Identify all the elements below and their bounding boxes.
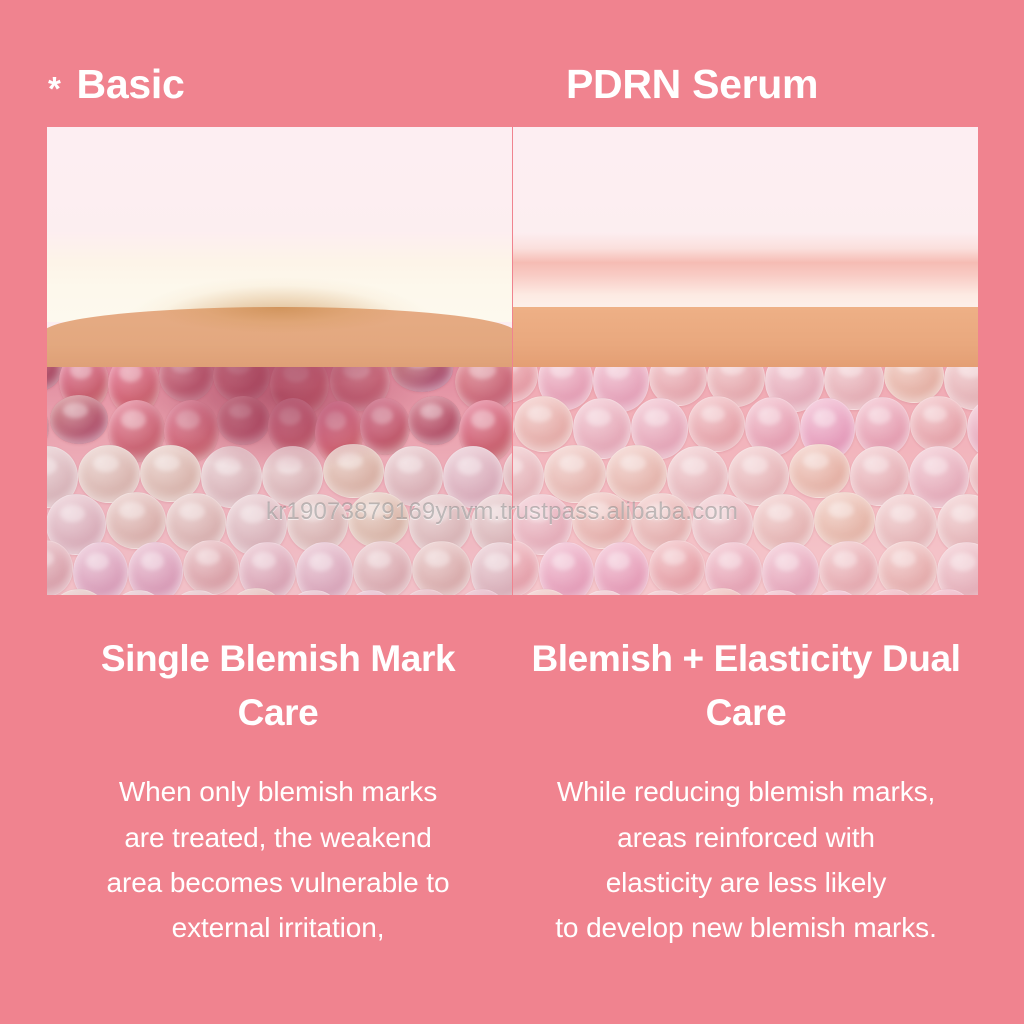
caption-pdrn-serum: Blemish + Elasticity Dual Care While red…	[524, 632, 968, 951]
skin-cell-bubble	[348, 492, 409, 548]
surface-layer-pdrn	[513, 127, 978, 239]
skin-cell-bubble	[353, 541, 411, 595]
skin-cell-bubble	[49, 589, 109, 595]
cell-matrix-layer-pdrn	[513, 367, 978, 595]
skin-cross-section-basic	[47, 127, 512, 595]
caption-basic-title: Single Blemish Mark Care	[56, 632, 500, 739]
skin-cell-bubble	[693, 588, 751, 595]
skin-cell-bubble	[343, 590, 399, 595]
skin-cell-bubble	[762, 542, 820, 595]
caption-line: area becomes vulnerable to	[56, 860, 500, 905]
column-header-pdrn-serum-label: PDRN Serum	[566, 61, 818, 108]
caption-line: to develop new blemish marks.	[524, 905, 968, 950]
column-header-basic-label: Basic	[77, 61, 185, 108]
column-header-basic: * Basic	[48, 52, 184, 116]
skin-cell-bubble	[809, 590, 865, 595]
skin-cell-bubble	[471, 542, 512, 595]
skin-cell-bubble	[865, 589, 920, 596]
caption-line: When only blemish marks	[56, 769, 500, 814]
skin-cell-bubble	[47, 589, 49, 595]
skin-cell-bubble	[50, 395, 109, 444]
cell-matrix-layer-basic	[47, 367, 512, 595]
cell-bubbles-pdrn	[513, 367, 978, 595]
caption-basic: Single Blemish Mark Care When only blemi…	[56, 632, 500, 951]
skin-cell-bubble	[412, 541, 471, 595]
caption-line: are treated, the weakend	[56, 815, 500, 860]
skin-cell-bubble	[878, 541, 937, 595]
skin-cell-bubble	[323, 444, 383, 499]
skin-cell-bubble	[920, 589, 975, 595]
skin-cell-bubble	[634, 590, 693, 595]
skin-cell-bubble	[594, 542, 649, 595]
skin-cell-bubble	[183, 540, 239, 595]
skin-cell-bubble	[217, 396, 270, 445]
skin-cell-bubble	[688, 396, 745, 452]
skin-cell-bubble	[539, 542, 594, 595]
cell-bubbles-basic	[47, 367, 512, 595]
skin-cell-bubble	[285, 590, 342, 595]
skin-cell-bubble	[814, 492, 875, 548]
caption-pdrn-serum-body: While reducing blemish marks,areas reinf…	[524, 769, 968, 950]
skin-cell-bubble	[454, 589, 509, 595]
skin-cell-bubble	[399, 589, 454, 596]
skin-cell-bubble	[819, 541, 877, 595]
comparison-infographic: * Basic PDRN Serum kr19073879169ynvm.tru…	[0, 0, 1024, 1024]
skin-cell-bubble	[514, 396, 573, 452]
skin-cell-bubble	[509, 590, 512, 595]
caption-pdrn-serum-title: Blemish + Elasticity Dual Care	[524, 632, 968, 739]
caption-basic-body: When only blemish marksare treated, the …	[56, 769, 500, 950]
skin-cell-bubble	[513, 540, 539, 595]
skin-cell-bubble	[109, 590, 169, 595]
skin-cell-bubble	[227, 588, 285, 595]
skin-cell-bubble	[649, 540, 705, 595]
skin-cell-bubble	[937, 542, 978, 595]
caption-line: areas reinforced with	[524, 815, 968, 860]
skin-cell-bubble	[47, 540, 73, 595]
skin-cell-bubble	[575, 590, 635, 595]
dermis-tan-layer-pdrn	[513, 307, 978, 375]
skin-cross-section-pdrn-serum	[513, 127, 978, 595]
skin-cell-bubble	[408, 396, 460, 446]
skin-cell-bubble	[515, 589, 575, 595]
skin-cell-bubble	[513, 589, 515, 595]
skin-cell-bubble	[239, 542, 296, 595]
asterisk-icon: *	[48, 72, 61, 105]
skin-cell-bubble	[751, 590, 808, 595]
column-header-pdrn-serum: PDRN Serum	[566, 52, 818, 116]
caption-line: external irritation,	[56, 905, 500, 950]
dermis-tan-layer-basic	[47, 307, 512, 375]
skin-cell-bubble	[705, 542, 762, 595]
skin-cell-bubble	[128, 542, 183, 595]
skin-cell-bubble	[789, 444, 849, 499]
skin-cell-bubble	[391, 367, 453, 392]
skin-cell-bubble	[168, 590, 227, 595]
skin-cell-bubble	[73, 542, 128, 595]
surface-layer-basic	[47, 127, 512, 239]
caption-line: While reducing blemish marks,	[524, 769, 968, 814]
skin-cell-bubble	[975, 590, 978, 595]
skin-cell-bubble	[296, 542, 354, 595]
caption-line: elasticity are less likely	[524, 860, 968, 905]
